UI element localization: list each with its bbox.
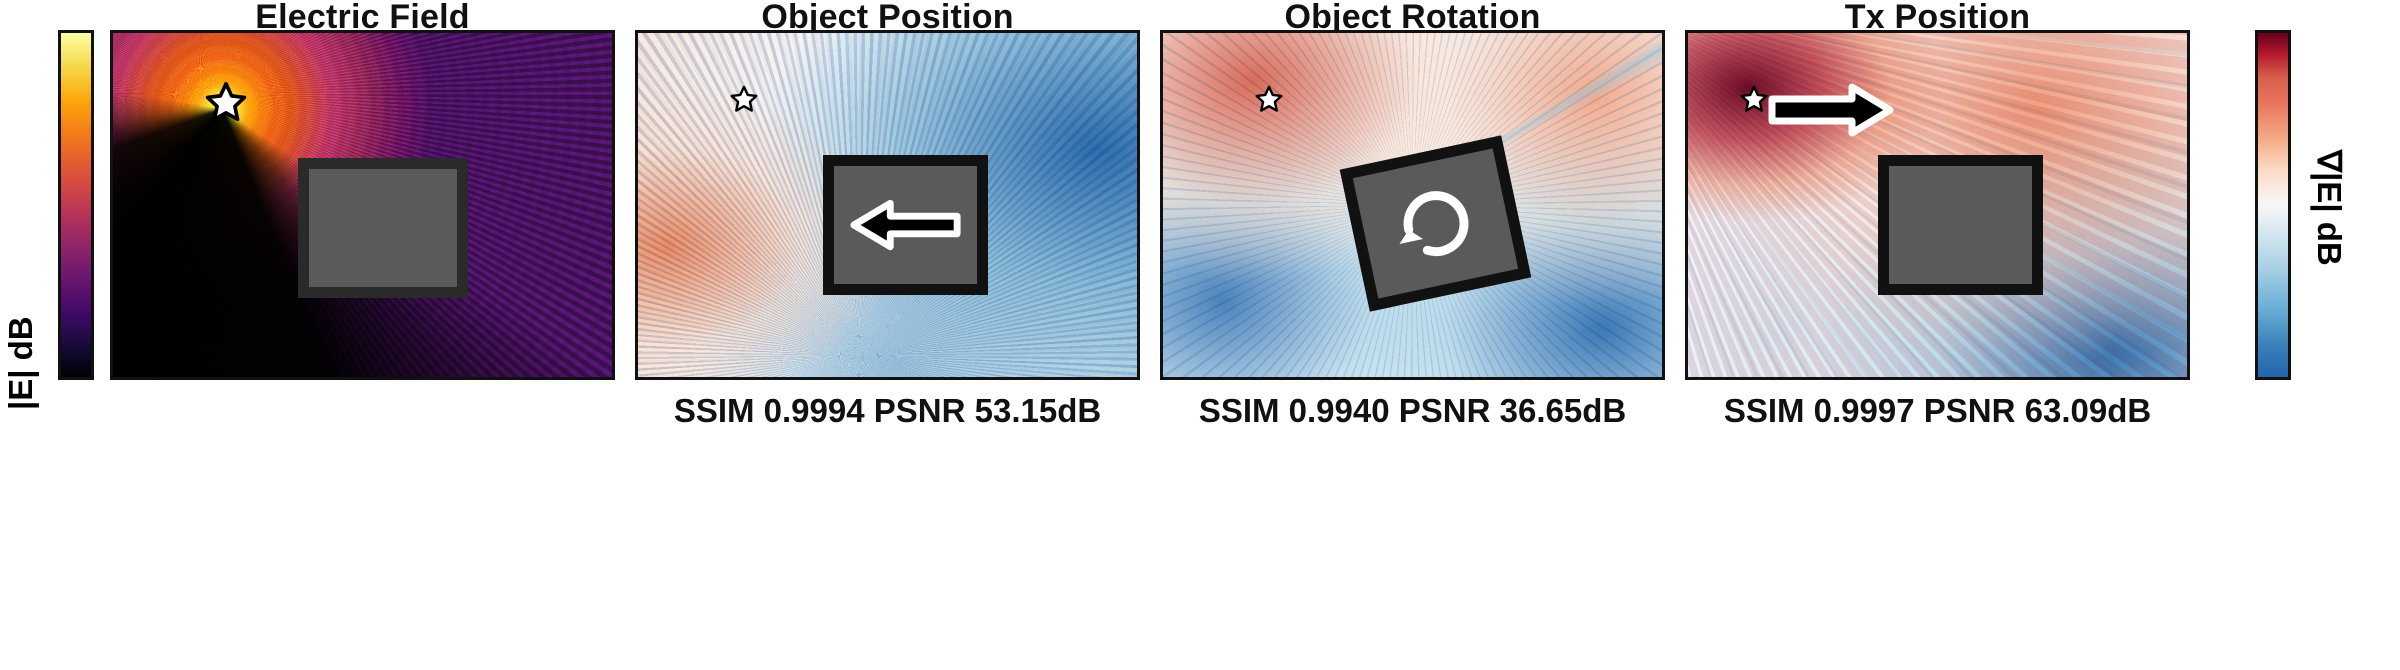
figure-root: |E| dB Electric Field Object Position	[0, 0, 2400, 670]
metric-tx-position: SSIM 0.9997 PSNR 63.09dB	[1665, 392, 2210, 430]
axes-object-position	[635, 30, 1140, 380]
metric-object-position: SSIM 0.9994 PSNR 53.15dB	[615, 392, 1160, 430]
axes-object-rotation	[1160, 30, 1665, 380]
rotate-counterclockwise-icon	[1376, 164, 1495, 283]
axes-tx-position	[1685, 30, 2190, 380]
field-gradient-colorbar	[2255, 30, 2291, 380]
object-square	[298, 158, 468, 298]
object-square	[823, 155, 988, 295]
electric-field-magnitude-colorbar	[58, 30, 94, 380]
star-marker-icon	[1740, 85, 1768, 113]
panel-electric-field: Electric Field	[110, 0, 615, 400]
panel-object-rotation: Object Rotation SSIM 0.9940 PSNR	[1160, 0, 1665, 400]
arrow-left-icon	[847, 194, 965, 256]
panel-tx-position: Tx Position SSIM 0.9997 PSNR 63.09dB	[1685, 0, 2190, 400]
right-colorbar-label: ∇|E| dB	[2310, 150, 2349, 410]
star-marker-icon	[730, 85, 758, 113]
arrow-right-icon	[1766, 81, 1896, 139]
star-marker-icon	[205, 81, 247, 123]
axes-electric-field	[110, 30, 615, 380]
star-marker-icon	[1255, 85, 1283, 113]
left-colorbar-label: |E| dB	[2, 150, 40, 410]
object-square	[1878, 155, 2043, 295]
metric-object-rotation: SSIM 0.9940 PSNR 36.65dB	[1140, 392, 1685, 430]
panel-object-position: Object Position SSIM 0.9994 PSNR 53.15dB	[635, 0, 1140, 400]
